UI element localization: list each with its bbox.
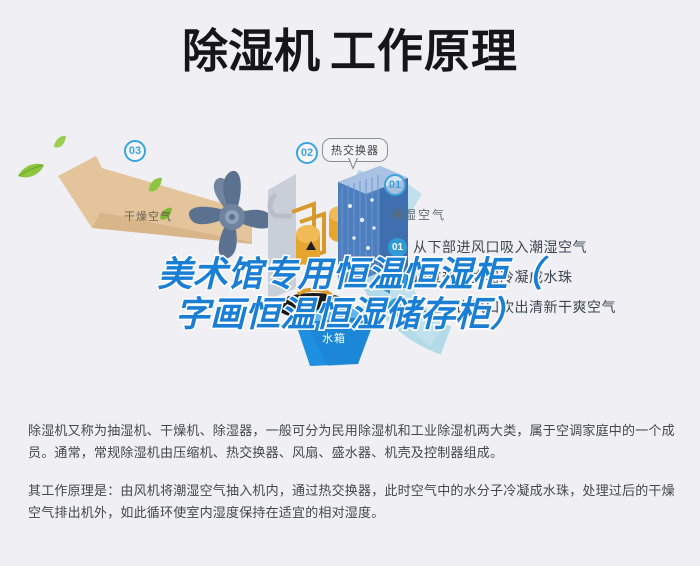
paragraph-1: 除湿机又称为抽湿机、干燥机、除湿器，一般可分为民用除湿机和工业除湿机两大类，属于…: [28, 420, 678, 464]
legend-item: 02 通过热交换器冷凝成水珠: [388, 262, 688, 292]
humid-air-label: 潮湿空气: [390, 206, 446, 223]
leaf-icon: [16, 162, 46, 180]
legend-item: 01 从下部进风口吸入潮湿空气: [388, 232, 688, 262]
page-title: 除湿机工作原理: [0, 26, 700, 77]
callout-pointer-icon: [348, 158, 358, 170]
page-title-text: 除湿机工作原理: [182, 26, 518, 77]
legend-list: 01 从下部进风口吸入潮湿空气 02 通过热交换器冷凝成水珠 03 从上部出风口…: [388, 232, 688, 322]
legend-text-03: 从上部出风口吹出清新干爽空气: [413, 297, 616, 317]
dehumidifier-infographic-page: 除湿机工作原理: [0, 0, 700, 566]
water-tank-label: 水箱: [322, 330, 346, 346]
paragraph-2: 其工作原理是：由风机将潮湿空气抽入机内，通过热交换器，此时空气中的水分子冷凝成水…: [28, 480, 678, 524]
legend-badge-01: 01: [388, 238, 407, 257]
leaf-icon: [146, 176, 164, 194]
leaf-icon: [52, 134, 68, 150]
legend-badge-03: 03: [388, 298, 407, 317]
legend-text-01: 从下部进风口吸入潮湿空气: [413, 237, 587, 257]
legend-item: 03 从上部出风口吹出清新干爽空气: [388, 292, 688, 322]
body-copy: 除湿机又称为抽湿机、干燥机、除湿器，一般可分为民用除湿机和工业除湿机两大类，属于…: [28, 420, 678, 524]
title-primary: 除湿机: [182, 25, 320, 77]
diagram-badge-01: 01: [384, 174, 406, 196]
legend-text-02: 通过热交换器冷凝成水珠: [413, 267, 573, 287]
diagram-badge-02: 02: [296, 142, 318, 164]
diagram-badge-03: 03: [124, 140, 146, 162]
dry-air-label: 干燥空气: [124, 208, 172, 224]
legend-badge-02: 02: [388, 268, 407, 287]
paragraph-spacer: [28, 464, 678, 480]
title-secondary: 工作原理: [330, 25, 518, 77]
